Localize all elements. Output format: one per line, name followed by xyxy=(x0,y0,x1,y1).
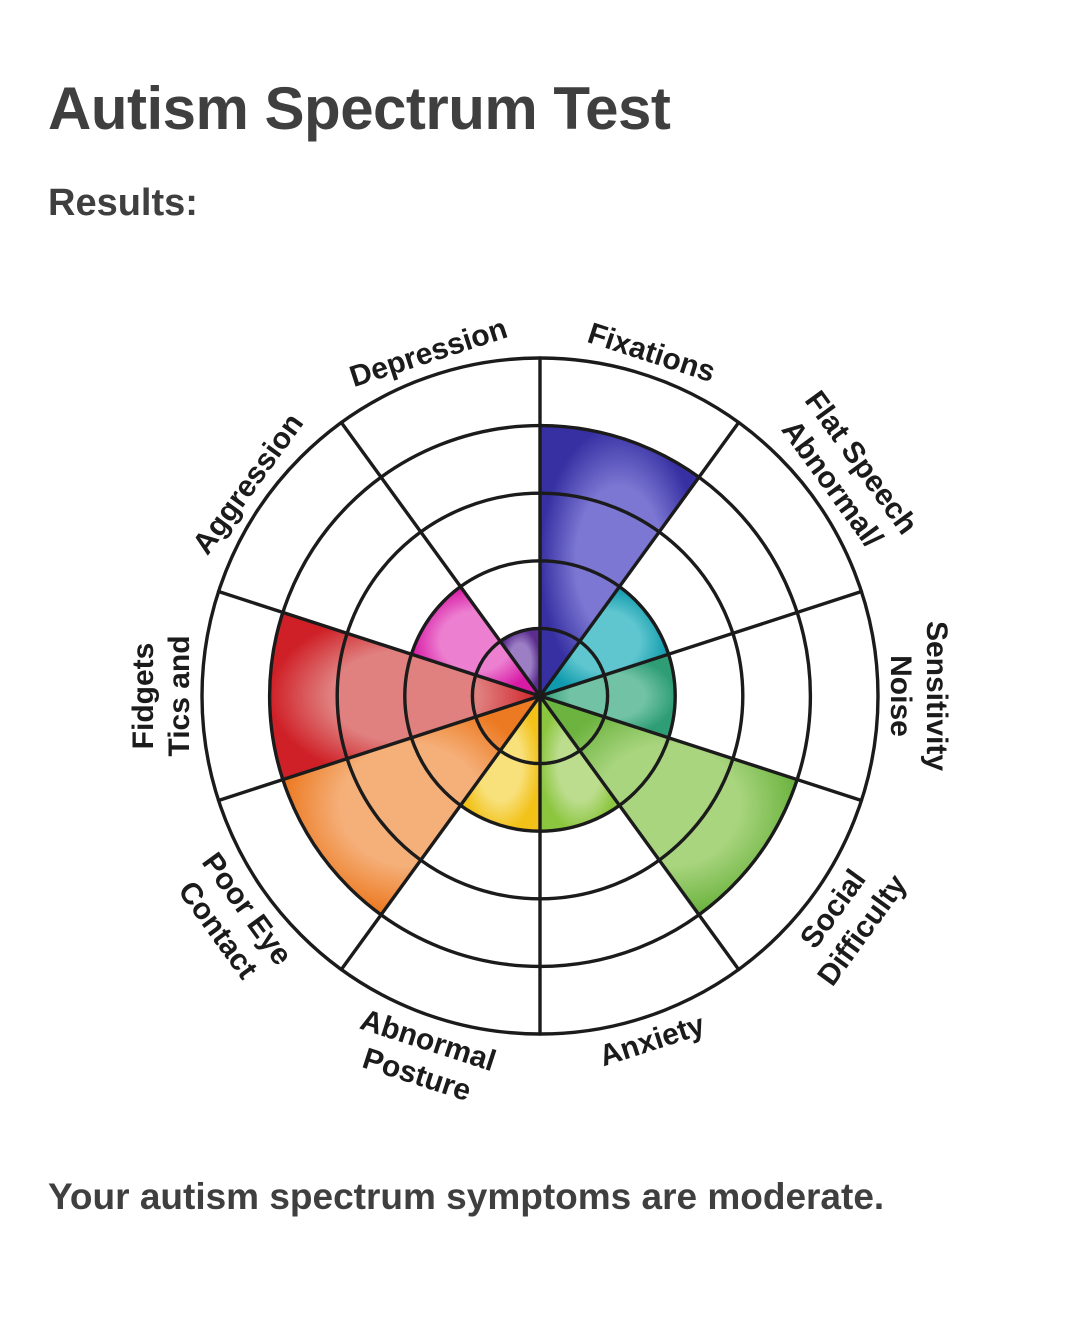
radar-label-noise-sensitivity: Sensitivity xyxy=(920,621,953,771)
radar-label-aggression: Aggression xyxy=(186,408,310,561)
autism-spectrum-radar-chart: FixationsAbnormal/Flat SpeechNoiseSensit… xyxy=(0,282,1080,1112)
radar-label-depression: Depression xyxy=(346,312,512,394)
radar-chart-container: FixationsAbnormal/Flat SpeechNoiseSensit… xyxy=(0,282,1080,1112)
results-page: Autism Spectrum Test Results: FixationsA… xyxy=(0,0,1080,1330)
results-heading: Results: xyxy=(48,182,198,225)
radar-label-tics-and-fidgets: Tics and xyxy=(163,635,196,756)
radar-label-tics-and-fidgets: Fidgets xyxy=(127,643,160,750)
radar-label-noise-sensitivity: Noise xyxy=(884,655,917,737)
radar-label-anxiety: Anxiety xyxy=(595,1008,709,1073)
result-summary-text: Your autism spectrum symptoms are modera… xyxy=(48,1168,968,1225)
radar-sectors xyxy=(270,426,798,915)
page-title: Autism Spectrum Test xyxy=(48,76,670,142)
